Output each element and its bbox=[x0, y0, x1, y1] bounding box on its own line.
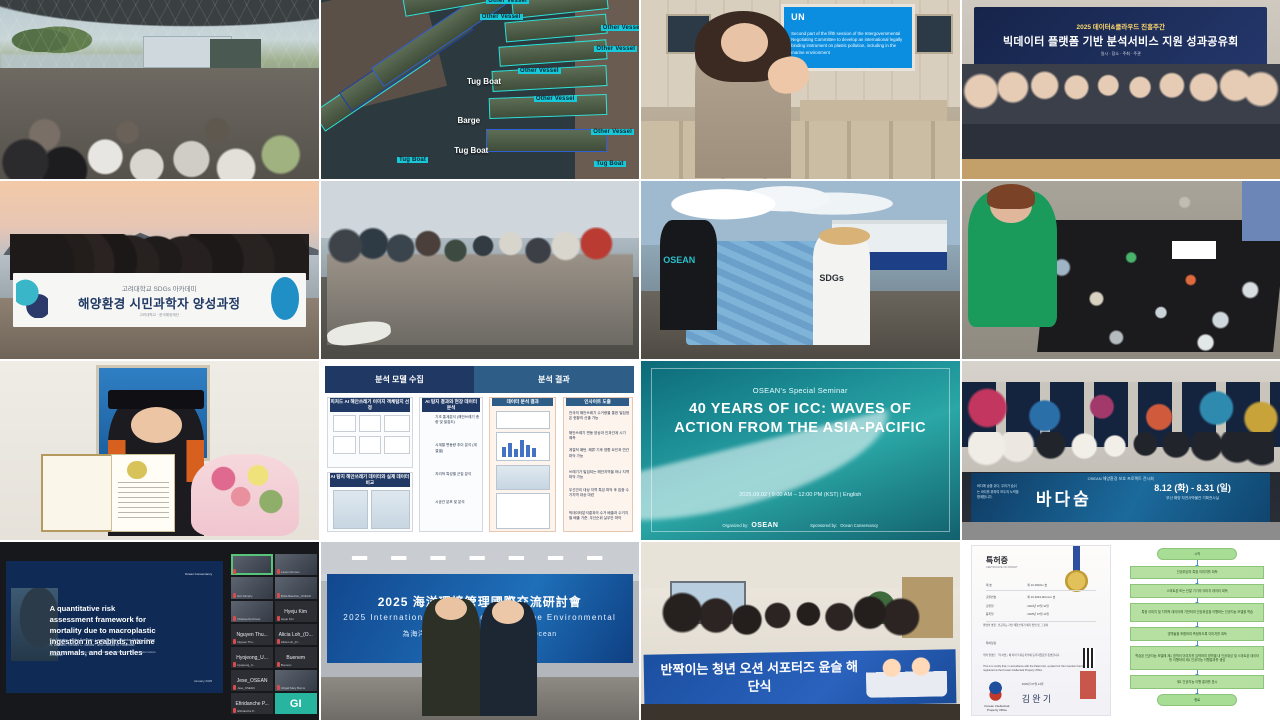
shared-slide: A quantitative risk assessment framework… bbox=[6, 561, 223, 693]
tile-marine-debris-collection-boat[interactable]: OSEAN SDGs bbox=[641, 181, 960, 360]
results-map-1 bbox=[496, 465, 550, 490]
banner-logo-mark bbox=[16, 279, 48, 318]
researcher-hair bbox=[987, 184, 1035, 209]
participant-name: Hyeju Kim bbox=[275, 609, 317, 615]
participant-tile[interactable]: Jese_OSEANJese_OSEAN bbox=[231, 670, 273, 691]
graduate-face bbox=[131, 407, 182, 443]
kipo-label: Korean Intellectual Property Office bbox=[983, 704, 1011, 712]
diploma-seal bbox=[127, 461, 146, 479]
sponsor-block: Sponsored by: Ocean Conservancy bbox=[810, 523, 878, 528]
participant-name: Abigail Mary Bonns bbox=[281, 686, 305, 690]
divider bbox=[986, 590, 1097, 591]
delegate-desks bbox=[641, 121, 960, 178]
detection-label: Tug Boat bbox=[594, 161, 625, 167]
certificate-row-label: 등록일 bbox=[986, 612, 994, 616]
academy-banner: 고려대학교 SDGs 아카데미 해양환경 시민과학자 양성과정 고려대학교 · … bbox=[13, 273, 306, 327]
tile-debris-sorting-survey[interactable] bbox=[962, 181, 1280, 360]
detection-label: Other Vessel bbox=[594, 46, 637, 52]
sponsor-logo: Ocean Conservancy bbox=[840, 523, 878, 528]
mortarboard-cap bbox=[108, 390, 204, 410]
method-item: 시공간 분포 및 분석 bbox=[435, 500, 480, 505]
qr-code bbox=[1083, 648, 1095, 668]
tile-bigdata-platform-ceremony[interactable]: 2025 데이터&클라우드 진흥주간 빅데이터 플랫폼 기반 분석서비스 지원 … bbox=[962, 0, 1280, 179]
slide-header-left: 분석 모델 수집 bbox=[325, 374, 473, 385]
detection-label: Other Vessel bbox=[486, 0, 529, 4]
mic-muted-icon bbox=[233, 662, 236, 667]
detection-label: Tug Boat bbox=[454, 146, 488, 155]
participant-avatar-initials: GI bbox=[275, 693, 317, 714]
organizer-block: Organized by: OSEAN bbox=[722, 522, 778, 529]
participant-tile[interactable]: Alicia Loh_(O...Alicia Loh_(O... bbox=[275, 624, 317, 645]
tile-badasum-exhibition-opening[interactable]: OSEAN 해양환경 보호 프로젝트 전시회 바다에 숨을 쉬다, 우리가 숨쉬… bbox=[962, 361, 1280, 540]
mini-figure bbox=[333, 436, 355, 454]
mini-figure bbox=[359, 415, 381, 433]
method-item: 시계열 변동량 추이 분석 (계절별) bbox=[435, 443, 480, 454]
certificate-holder: 특허청장 bbox=[986, 641, 996, 645]
slide-header-right: 분석 결과 bbox=[474, 366, 635, 393]
certificate-row-label: 출원일 bbox=[986, 604, 994, 608]
insight-item: 전국의 해안쓰레기 수거량을 통한 밀집정온 현황의 산출 가능 bbox=[569, 411, 630, 422]
insight-item: 우선관리 대상 지역 특성 파악 후 집중 수거지역 대상 마련 bbox=[569, 488, 630, 499]
mini-figure bbox=[333, 415, 355, 433]
certificate-row-label: 출원번호 bbox=[986, 595, 996, 599]
mic-muted-icon bbox=[277, 569, 280, 574]
banner-logos: 고려대학교 · 한국해양재단 bbox=[139, 313, 179, 318]
tile-taiwan-marine-conference[interactable]: 2025 海洋環境管理國際交流研討會 2025 International Co… bbox=[321, 542, 640, 720]
satellite-tile bbox=[333, 490, 368, 529]
shirt-text-osean: OSEAN bbox=[663, 255, 695, 265]
results-map-2 bbox=[496, 493, 550, 529]
red-seal-stamp bbox=[1080, 671, 1097, 698]
participant-tile[interactable]: GI bbox=[275, 693, 317, 714]
tile-zoom-webinar-presentation[interactable]: A quantitative risk assessment framework… bbox=[0, 542, 319, 720]
participant-name-small: Jese_OSEAN bbox=[237, 686, 254, 690]
participant-tile[interactable]: Efiridanche P...Efiridanche P... bbox=[231, 693, 273, 714]
diploma-text-lines bbox=[118, 482, 169, 521]
sponsored-by-label: Sponsored by: bbox=[810, 523, 837, 528]
participant-tile[interactable]: Britta Baechler_OCEAN bbox=[275, 577, 317, 598]
detection-label: Other Vessel bbox=[518, 68, 561, 74]
seminar-datetime: 2025.09.02 | 9:00 AM – 12:00 PM (KST) | … bbox=[641, 492, 960, 498]
participant-name: Alicia Loh_(O... bbox=[275, 632, 317, 638]
tile-un-plastics-treaty-session[interactable]: UN Second part of the fifth session of t… bbox=[641, 0, 960, 179]
participant-name: Buenem bbox=[275, 655, 317, 661]
insight-item: 계절적 패턴, 해류·기후 영향 요인과 연관 파악 가능 bbox=[569, 448, 630, 459]
mic-muted-icon bbox=[233, 616, 236, 621]
certificate-row-value: 제 10-2024-00xxxxx 호 bbox=[1027, 595, 1055, 599]
flower-bouquet bbox=[191, 454, 299, 536]
stage-floor bbox=[962, 159, 1280, 179]
mini-figure bbox=[384, 436, 409, 454]
attendee-right-face bbox=[492, 600, 524, 623]
mic-muted-icon bbox=[277, 639, 280, 644]
patent-certificate: 특허증 CERTIFICATE OF PATENT 제 호 제 10-2602x… bbox=[971, 545, 1111, 716]
banner-title: 반짝이는 청년 오션 서포터즈 윤슬 해단식 bbox=[656, 659, 863, 698]
seminar-title: 40 YEARS OF ICC: WAVES OF ACTION FROM TH… bbox=[660, 400, 940, 437]
participant-name: Nguyen Thu... bbox=[231, 632, 273, 638]
panel-title: 피처드 AI 해안쓰레기 이미지 객체탐지 선정 bbox=[330, 398, 410, 412]
participant-name: Chelsea Rochman bbox=[237, 617, 260, 621]
backdrop-title-zh: 2025 海洋環境管理國際交流研討會 bbox=[327, 593, 633, 610]
tile-analysis-model-results-slide[interactable]: 분석 모델 수집 분석 결과 피처드 AI 해안쓰레기 이미지 객체탐지 선정 … bbox=[321, 361, 640, 540]
commissioner-signature: 김 완 기 bbox=[1022, 692, 1051, 705]
method-item: 기초 통계분석 (해안쓰레기 총량 및 밀집도) bbox=[435, 415, 480, 426]
banner-dates: 8.12 (화) - 8.31 (일) bbox=[1133, 481, 1253, 494]
detection-label: Tug Boat bbox=[467, 77, 501, 86]
flow-node: 스마트폰 또는 단말 기기의 이미지 데이터 획득 bbox=[1130, 584, 1265, 598]
organizer-logo: OSEAN bbox=[751, 522, 778, 529]
participant-tile[interactable]: Erin Murphy bbox=[231, 577, 273, 598]
ceiling-lights bbox=[321, 542, 640, 574]
participant-tile[interactable]: BuenemBuenem bbox=[275, 647, 317, 668]
participant-name-small: Hyeju Kim bbox=[281, 617, 294, 621]
participant-name: Jese_OSEAN bbox=[231, 678, 273, 684]
banner-subtitle: 일시 · 장소 · 주최 · 주관 bbox=[1101, 51, 1141, 57]
issue-date: 2025년 07월 14일 bbox=[1022, 682, 1044, 686]
closing-ceremony-banner: 반짝이는 청년 오션 서포터즈 윤슬 해단식 bbox=[644, 649, 957, 708]
table-surface bbox=[641, 704, 960, 720]
mini-figure bbox=[384, 415, 409, 433]
participant-tile[interactable]: Lauren Roman bbox=[275, 554, 317, 575]
banner-title: 빅데이터 플랫폼 기반 분석서비스 지원 성과공유회 bbox=[1003, 33, 1239, 49]
seminar-credits: Organized by: OSEAN Sponsored by: Ocean … bbox=[641, 522, 960, 529]
slide-affiliations: ¹Ocean Conservancy, ²University of Toron… bbox=[50, 651, 158, 657]
participant-tile[interactable]: Abigail Mary Bonns bbox=[275, 670, 317, 691]
organized-by-label: Organized by: bbox=[722, 523, 748, 528]
group-of-attendees bbox=[962, 64, 1280, 160]
shirt-text-sdgs: SDGs bbox=[819, 273, 844, 283]
results-table bbox=[496, 411, 550, 429]
participant-rail[interactable]: Lauren Roman Erin Murphy Britta Baechler… bbox=[229, 552, 318, 716]
certificate-row-value: 2025년 07월 14일 bbox=[1027, 612, 1049, 616]
panel-title: AI 탐지 결과와 현장 데이터 분석 bbox=[422, 398, 479, 412]
seated-crowd bbox=[0, 68, 319, 179]
un-screen-text: Second part of the fifth session of the … bbox=[791, 31, 905, 57]
invention-title: 발명의 명칭 : 인공지능 기반 해양쓰레기 예측 방법 및 그 장치 bbox=[983, 624, 1099, 628]
participant-name: Britta Baechler_OCEAN bbox=[281, 594, 311, 598]
attendee-left-face bbox=[435, 597, 467, 620]
tile-aerial-vessel-detection[interactable]: Other Vessel Other Vessel Other Vessel O… bbox=[321, 0, 640, 179]
tile-coastal-cleanup-volunteers[interactable] bbox=[321, 181, 640, 360]
participant-name-small: Hyojeong_U... bbox=[237, 663, 255, 667]
mic-muted-icon bbox=[277, 685, 280, 690]
participant-name-small: Buenem bbox=[281, 663, 291, 667]
participant-tile[interactable]: Hyeju KimHyeju Kim bbox=[275, 601, 317, 622]
insight-item: 해안쓰레기 변동 양상과 인과관계 시기 예측 bbox=[569, 431, 630, 442]
detection-label: Barge bbox=[457, 116, 480, 125]
slide-logo: Ocean Conservancy bbox=[185, 572, 212, 576]
seminar-kicker: OSEAN's Special Seminar bbox=[641, 386, 960, 395]
tile-outdoor-amphitheatre-audience[interactable] bbox=[0, 0, 319, 179]
certificate-row-value: 2024년 07월 11일 bbox=[1027, 604, 1049, 608]
process-flowchart: 시작 인공위성의 특정 이미지를 획득 스마트폰 또는 단말 기기의 이미지 데… bbox=[1121, 545, 1274, 716]
banner-seal bbox=[271, 277, 300, 320]
participant-tile[interactable]: Hyojeong_U...Hyojeong_U... bbox=[231, 647, 273, 668]
certificate-row-value: 제 10-2602xx 호 bbox=[1027, 583, 1047, 587]
slide-header: 분석 모델 수집 분석 결과 bbox=[325, 366, 634, 393]
participant-name: Erin Murphy bbox=[237, 594, 252, 598]
detection-label: Other Vessel bbox=[534, 96, 577, 102]
flow-node: 특정 이미지 및 지역적 데이터에 기반하여 인공위성을 이행하는 인공지능 모… bbox=[1130, 603, 1265, 622]
slide-authors: Erin Murphy¹,², Britta Baechler¹, Lauren… bbox=[50, 638, 158, 648]
mic-muted-icon bbox=[277, 616, 280, 621]
panel-title: AI 탐지 해안쓰레기 데이터와 실제 데이터 비교 bbox=[330, 473, 410, 487]
insight-item: 빅데이터분석결과의 수거 배출과 수거지별 배출 기준, 우선순위 실무안 파악 bbox=[569, 511, 630, 522]
flow-node-end: 종료 bbox=[1157, 694, 1236, 706]
un-logo: UN bbox=[791, 12, 905, 22]
gold-medal-seal bbox=[1065, 570, 1088, 592]
detection-label: Other Vessel bbox=[601, 25, 639, 31]
certificate-row-label: 제 호 bbox=[986, 583, 992, 587]
photo-grid: Other Vessel Other Vessel Other Vessel O… bbox=[0, 0, 1280, 720]
mic-muted-icon bbox=[233, 639, 236, 644]
detection-label: Tug Boat bbox=[397, 157, 428, 163]
flow-node: 영역들을 포함하여 측정하도록 이미지를 획득 bbox=[1130, 627, 1265, 641]
mic-muted-icon bbox=[277, 593, 280, 598]
tile-patent-certificate-and-flowchart[interactable]: 특허증 CERTIFICATE OF PATENT 제 호 제 10-2602x… bbox=[962, 542, 1280, 720]
detection-box bbox=[486, 129, 607, 152]
participant-name-small: Efiridanche P... bbox=[237, 709, 256, 713]
mini-figure bbox=[359, 436, 381, 454]
tile-sdgs-academy-beach-banner[interactable]: 고려대학교 SDGs 아카데미 해양환경 시민과학자 양성과정 고려대학교 · … bbox=[0, 181, 319, 360]
banner-kicker: 고려대학교 SDGs 아카데미 bbox=[122, 283, 197, 293]
mic-muted-icon bbox=[233, 708, 236, 713]
tile-graduation-diploma-photo[interactable] bbox=[0, 361, 319, 540]
participant-tile[interactable]: Chelsea Rochman bbox=[231, 601, 273, 622]
mic-muted-icon bbox=[233, 685, 236, 690]
participant-name-small: Alicia Loh_(O... bbox=[281, 640, 300, 644]
tile-icc-40-years-seminar-card[interactable]: OSEAN's Special Seminar 40 YEARS OF ICC:… bbox=[641, 361, 960, 540]
participant-name: Lauren Roman bbox=[281, 570, 300, 574]
flow-node-start: 시작 bbox=[1157, 548, 1236, 560]
participant-name: Hyojeong_U... bbox=[231, 655, 273, 661]
flow-node: 학습된 인공지능 모델에 제1 영역의 이미지를 입력하여 영역별 내 인공위성… bbox=[1130, 646, 1265, 670]
satellite-tile bbox=[371, 490, 409, 529]
banner-venue: 부산 해양 자연사박물관 기획전시실 bbox=[1133, 496, 1253, 501]
mic-muted-icon bbox=[233, 593, 236, 598]
banner-illustration bbox=[865, 656, 947, 698]
side-screen-right bbox=[915, 14, 953, 53]
bystander-legs bbox=[1242, 181, 1280, 242]
certificate-title: 특허증 bbox=[986, 555, 1008, 566]
volunteer-osean-shirt bbox=[660, 220, 717, 331]
slide-date: January 2025 bbox=[194, 679, 212, 683]
insight-item: 쓰레기가 밀집되는 해안지역을 하나 지역 파악 가능 bbox=[569, 470, 630, 481]
exhibition-banner: OSEAN 해양환경 보호 프로젝트 전시회 바다에 숨을 쉬다, 우리가 숨쉬… bbox=[971, 473, 1270, 523]
panel-title: 인사이트 도출 bbox=[566, 398, 630, 406]
banner-title: 바다숨 bbox=[995, 485, 1133, 510]
divider bbox=[986, 621, 1097, 622]
conference-banner: 2025 데이터&클라우드 진흥주간 빅데이터 플랫폼 기반 분석서비스 지원 … bbox=[974, 7, 1267, 71]
flow-node: 인공위성의 특정 이미지를 획득 bbox=[1130, 566, 1265, 580]
mic-muted-icon bbox=[233, 569, 236, 574]
tile-youth-ocean-supporters-closing[interactable]: 반짝이는 청년 오션 서포터즈 윤슬 해단식 bbox=[641, 542, 960, 720]
detection-label: Other Vessel bbox=[591, 129, 634, 135]
bar-series bbox=[502, 440, 536, 458]
panel-title: 데이터 분석 결과 bbox=[492, 398, 553, 406]
flow-node: 제1 인공지능 이행 결과를 표시 bbox=[1130, 675, 1265, 689]
straw-hat bbox=[819, 227, 870, 245]
booth-tent bbox=[210, 39, 261, 68]
participant-tile[interactable] bbox=[231, 554, 273, 575]
participant-name: Efiridanche P... bbox=[231, 701, 273, 707]
method-item: 지리적 특성별 군집 분석 bbox=[435, 472, 480, 477]
volunteer-sdgs-shirt bbox=[813, 234, 870, 345]
participant-name-small: Nguyen Thu... bbox=[237, 640, 255, 644]
banner-kicker: 2025 데이터&클라우드 진흥주간 bbox=[1076, 21, 1165, 31]
participant-tile[interactable]: Nguyen Thu...Nguyen Thu... bbox=[231, 624, 273, 645]
gallery-floor bbox=[962, 522, 1280, 540]
certificate-title-en: CERTIFICATE OF PATENT bbox=[986, 566, 1018, 569]
banner-title: 해양환경 시민과학자 양성과정 bbox=[78, 293, 240, 312]
mic-muted-icon bbox=[277, 662, 280, 667]
survey-datasheet bbox=[1172, 241, 1217, 259]
sorted-debris bbox=[1032, 230, 1280, 355]
detection-label: Other Vessel bbox=[480, 14, 523, 20]
